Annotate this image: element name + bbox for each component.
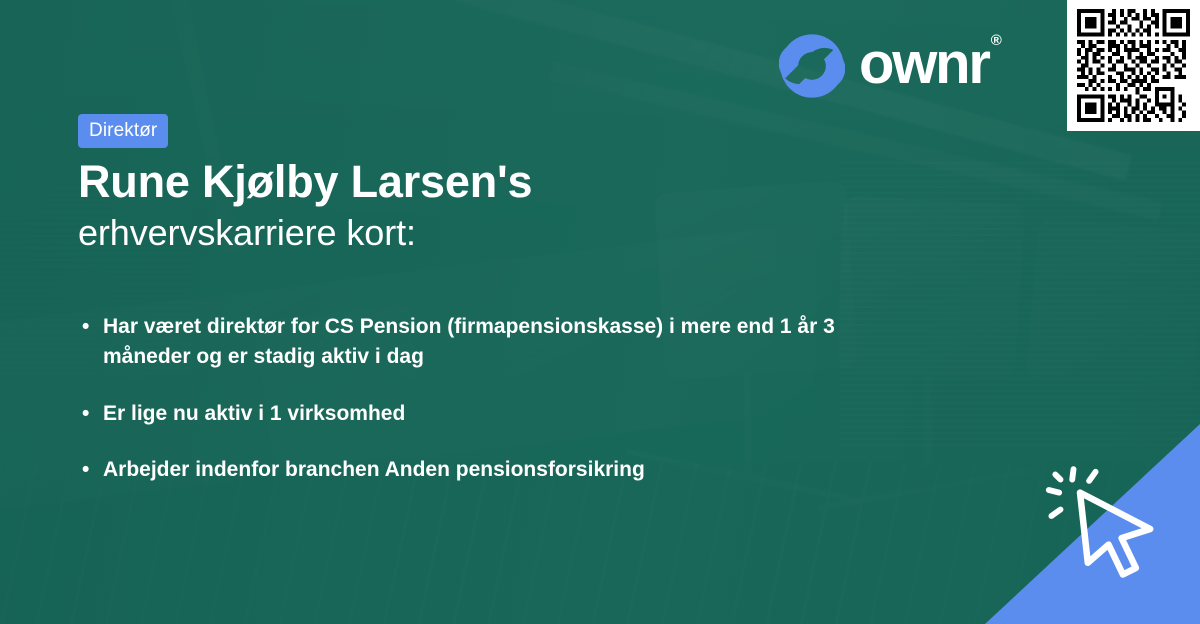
career-card: Direktør Rune Kjølby Larsen's erhvervska… <box>0 0 1200 624</box>
ownr-wordmark: ownr <box>859 35 989 93</box>
role-badge: Direktør <box>78 114 168 148</box>
registered-trademark-icon: ® <box>991 33 1002 48</box>
list-item: Har været direktør for CS Pension (firma… <box>78 312 858 373</box>
ownr-circle-swirl-icon <box>779 33 845 99</box>
click-cursor-icon <box>1041 464 1171 594</box>
qr-code-panel[interactable] <box>1067 0 1200 131</box>
list-item: Er lige nu aktiv i 1 virksomhed <box>78 399 858 429</box>
page-title: Rune Kjølby Larsen's <box>78 156 532 208</box>
ownr-logo: ownr ® <box>779 33 1000 99</box>
qr-code-icon[interactable] <box>1077 9 1190 122</box>
corner-accent <box>985 424 1200 624</box>
list-item: Arbejder indenfor branchen Anden pension… <box>78 455 858 485</box>
career-highlights-list: Har været direktør for CS Pension (firma… <box>78 312 858 512</box>
page-subtitle: erhvervskarriere kort: <box>78 212 416 254</box>
